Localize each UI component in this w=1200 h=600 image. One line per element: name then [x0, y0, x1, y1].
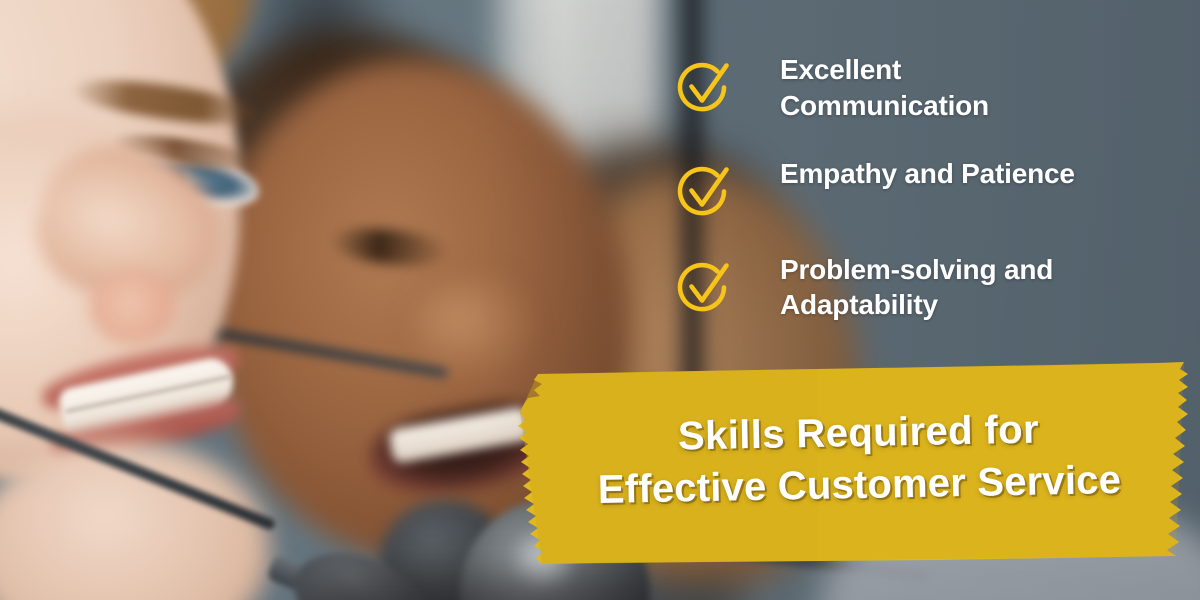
checklist-item: Empathy and Patience	[676, 156, 1176, 220]
checklist-item: Problem-solving and Adaptability	[676, 252, 1176, 324]
poster-canvas: Excellent Communication Empathy and Pati…	[0, 0, 1200, 600]
checklist-item: Excellent Communication	[676, 52, 1176, 124]
title-banner: Skills Required for Effective Customer S…	[518, 360, 1200, 572]
circle-check-icon	[676, 260, 732, 316]
checklist-item-label: Empathy and Patience	[780, 156, 1075, 192]
skills-checklist: Excellent Communication Empathy and Pati…	[676, 52, 1176, 323]
circle-check-icon	[676, 60, 732, 116]
circle-check-icon	[676, 164, 732, 220]
checklist-item-label: Problem-solving and Adaptability	[780, 252, 1110, 324]
checklist-item-label: Excellent Communication	[780, 52, 1080, 124]
banner-title: Skills Required for Effective Customer S…	[517, 401, 1200, 517]
